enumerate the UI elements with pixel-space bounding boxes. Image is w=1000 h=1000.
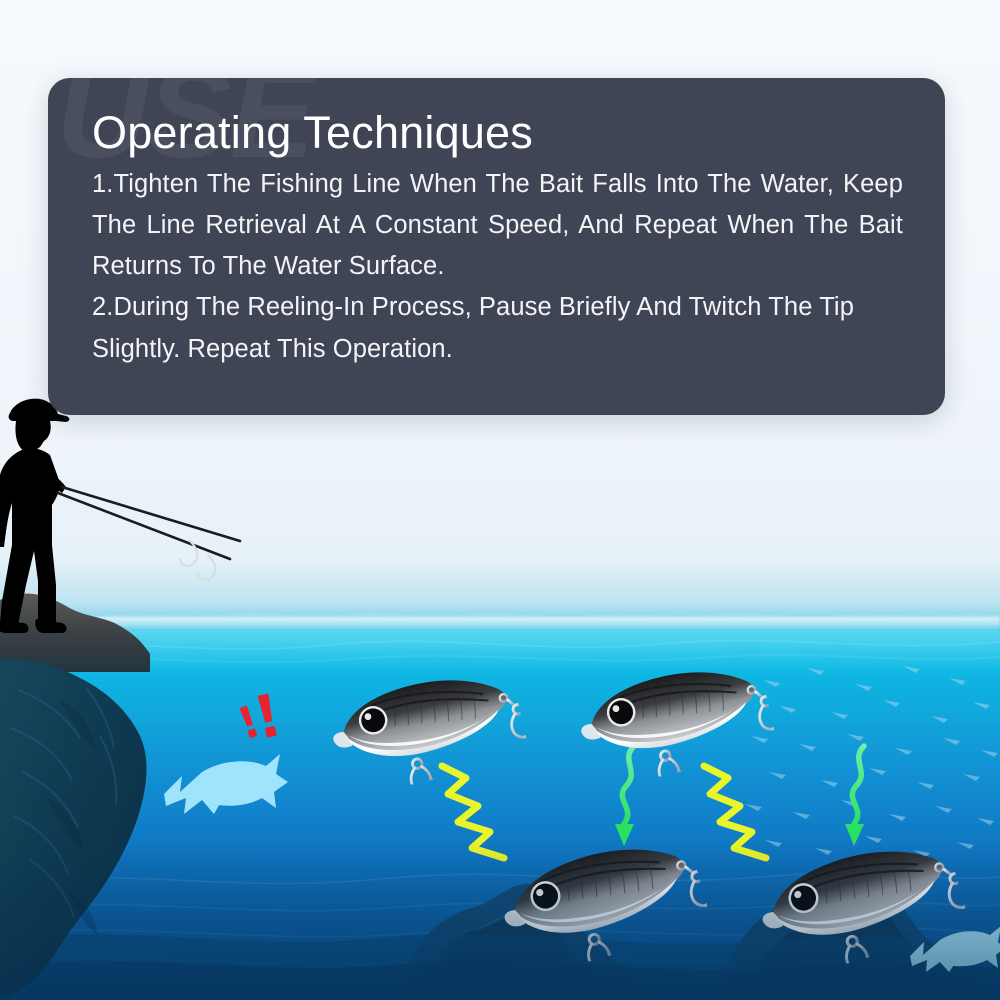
instruction-step-1: 1.Tighten The Fishing Line When The Bait… — [92, 164, 903, 288]
instruction-step-2: 2.During The Reeling-In Process, Pause B… — [92, 287, 903, 370]
deep-water-shading — [0, 840, 1000, 1000]
product-infographic: USE Operating Techniques 1.Tighten The F… — [0, 0, 1000, 1000]
alert-exclamations-icon — [232, 692, 290, 748]
fisherman-silhouette — [0, 395, 244, 645]
page-title: Operating Techniques — [92, 108, 903, 158]
ghost-fish-left — [158, 748, 290, 826]
operating-techniques-panel: USE Operating Techniques 1.Tighten The F… — [48, 78, 945, 415]
